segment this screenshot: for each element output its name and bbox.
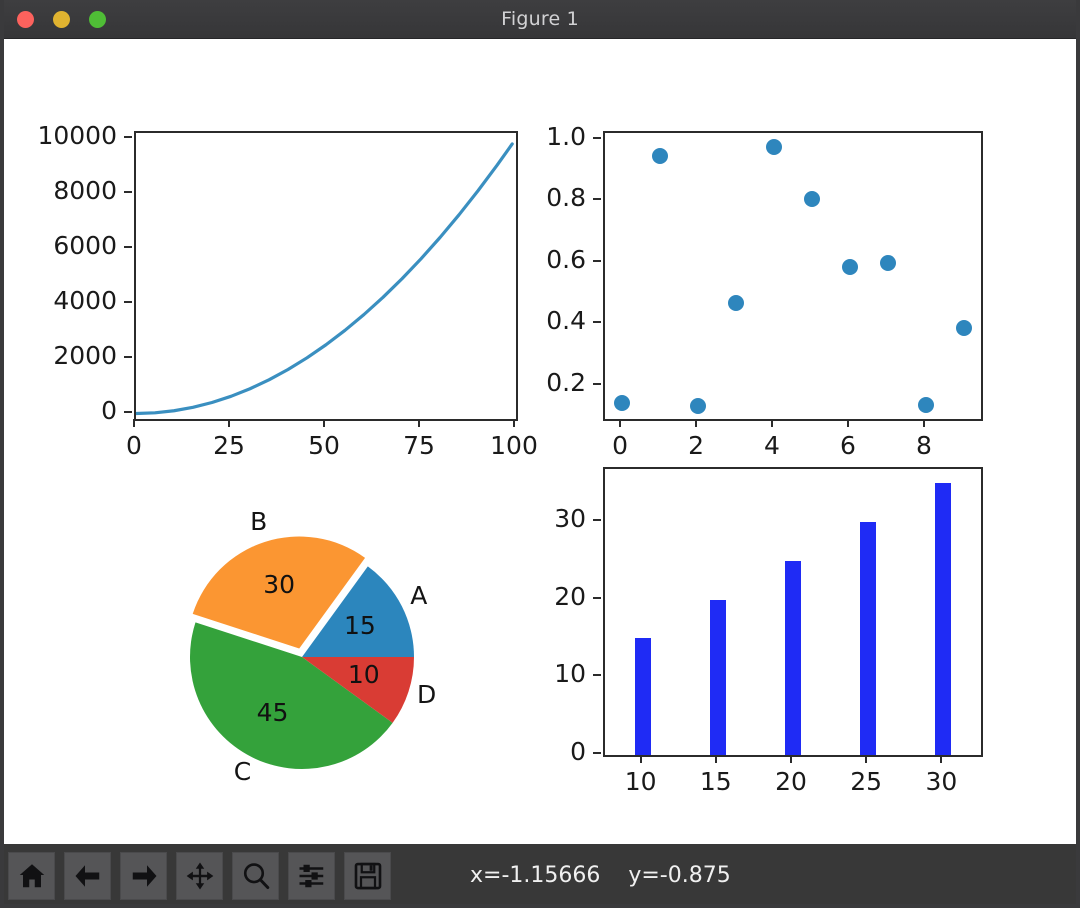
- line-plot-ytick: [124, 356, 132, 358]
- scatter-point: [690, 398, 706, 414]
- bar-chart-axes[interactable]: [603, 467, 983, 757]
- coordinate-readout: x=-1.15666 y=-0.875: [470, 844, 731, 908]
- bar-chart-ytick-label: 10: [473, 659, 586, 688]
- line-plot-xtick-label: 0: [84, 431, 184, 460]
- line-plot-xtick: [323, 419, 325, 427]
- line-plot-ytick: [124, 246, 132, 248]
- line-plot-ytick-label: 6000: [0, 231, 117, 260]
- navigation-toolbar: x=-1.15666 y=-0.875: [0, 844, 1080, 908]
- scatter-plot-xtick: [695, 419, 697, 427]
- scatter-plot-ytick-label: 0.6: [473, 245, 586, 274]
- bar-chart-xtick: [940, 755, 942, 763]
- line-plot-xtick-label: 75: [369, 431, 469, 460]
- bar: [710, 600, 726, 755]
- scatter-plot-xtick: [619, 419, 621, 427]
- line-plot-xtick-label: 50: [274, 431, 374, 460]
- scatter-plot-xtick-label: 8: [874, 431, 974, 460]
- pie-slice-value: 15: [320, 611, 400, 640]
- scatter-plot-ytick: [593, 137, 601, 139]
- pie-chart-slices: [165, 509, 495, 799]
- scatter-point: [652, 148, 668, 164]
- figure-canvas[interactable]: 02000400060008000100000255075100 0.20.40…: [0, 39, 1080, 844]
- bar-chart-ytick: [593, 752, 601, 754]
- bar: [860, 522, 876, 755]
- scatter-plot-ytick-label: 0.4: [473, 306, 586, 335]
- scatter-point: [842, 259, 858, 275]
- scatter-plot-ytick: [593, 198, 601, 200]
- line-plot-ytick-label: 8000: [0, 176, 117, 205]
- line-plot-xtick-label: 100: [464, 431, 564, 460]
- bar: [785, 561, 801, 755]
- scatter-point: [766, 139, 782, 155]
- pie-slice-value: 30: [239, 570, 319, 599]
- back-arrow-icon: [73, 861, 103, 891]
- bar-chart-xtick-label: 30: [891, 767, 991, 796]
- home-button[interactable]: [8, 852, 55, 900]
- zoom-magnifier-icon: [241, 861, 271, 891]
- bar: [935, 483, 951, 755]
- figure-window: Figure 1 0200040006000800010000025507510…: [0, 0, 1080, 908]
- pie-slice-label: B: [219, 507, 299, 536]
- bar-chart-ytick-label: 0: [473, 737, 586, 766]
- zoom-button[interactable]: [232, 852, 279, 900]
- scatter-point: [880, 255, 896, 271]
- line-plot-xtick: [418, 419, 420, 427]
- line-plot-xtick: [133, 419, 135, 427]
- line-plot-series: [136, 133, 516, 419]
- line-plot-ytick: [124, 411, 132, 413]
- scatter-point: [804, 191, 820, 207]
- pan-move-icon: [185, 861, 215, 891]
- line-plot-ytick-label: 10000: [0, 121, 117, 150]
- forward-button[interactable]: [120, 852, 167, 900]
- scatter-plot-xtick: [771, 419, 773, 427]
- window-title: Figure 1: [0, 0, 1080, 39]
- line-plot-ytick: [124, 191, 132, 193]
- line-plot-xtick: [513, 419, 515, 427]
- home-icon: [17, 861, 47, 891]
- scatter-point: [728, 295, 744, 311]
- bar-chart-xtick: [640, 755, 642, 763]
- pan-button[interactable]: [176, 852, 223, 900]
- bar-chart-ytick: [593, 597, 601, 599]
- pie-slice-label: C: [203, 757, 283, 786]
- save-floppy-icon: [353, 861, 383, 891]
- scatter-plot-axes[interactable]: [603, 131, 983, 421]
- save-button[interactable]: [344, 852, 391, 900]
- bar-chart-xtick: [715, 755, 717, 763]
- pie-slice-label: A: [379, 581, 459, 610]
- scatter-point: [918, 397, 934, 413]
- bar-chart-ytick-label: 30: [473, 504, 586, 533]
- scatter-plot-xtick: [923, 419, 925, 427]
- scatter-point: [614, 395, 630, 411]
- line-plot-ytick-label: 2000: [0, 341, 117, 370]
- bar-chart-xtick: [865, 755, 867, 763]
- scatter-point: [956, 320, 972, 336]
- scatter-plot-ytick: [593, 383, 601, 385]
- line-plot-ytick-label: 0: [0, 396, 117, 425]
- configure-subplots-button[interactable]: [288, 852, 335, 900]
- forward-arrow-icon: [129, 861, 159, 891]
- pie-chart-axes[interactable]: 15A30B45C10D: [165, 509, 495, 799]
- bar-chart-ytick: [593, 519, 601, 521]
- line-plot-xtick: [228, 419, 230, 427]
- line-plot-xtick-label: 25: [179, 431, 279, 460]
- bar-chart-ytick: [593, 674, 601, 676]
- line-plot-ytick: [124, 301, 132, 303]
- pie-slice-value: 45: [233, 698, 313, 727]
- scatter-plot-xtick: [847, 419, 849, 427]
- bar-chart-ytick-label: 20: [473, 582, 586, 611]
- scatter-plot-ytick: [593, 260, 601, 262]
- window-titlebar: Figure 1: [0, 0, 1080, 39]
- back-button[interactable]: [64, 852, 111, 900]
- configure-subplots-icon: [297, 861, 327, 891]
- scatter-plot-ytick-label: 1.0: [473, 122, 586, 151]
- line-plot-ytick: [124, 136, 132, 138]
- pie-slice-label: D: [387, 680, 467, 709]
- line-plot-axes[interactable]: [134, 131, 518, 421]
- line-plot-ytick-label: 4000: [0, 286, 117, 315]
- bar-chart-bars: [605, 469, 981, 755]
- bar-chart-xtick: [790, 755, 792, 763]
- scatter-plot-ytick-label: 0.8: [473, 183, 586, 212]
- bar: [635, 638, 651, 755]
- scatter-plot-ytick-label: 0.2: [473, 368, 586, 397]
- scatter-plot-ytick: [593, 321, 601, 323]
